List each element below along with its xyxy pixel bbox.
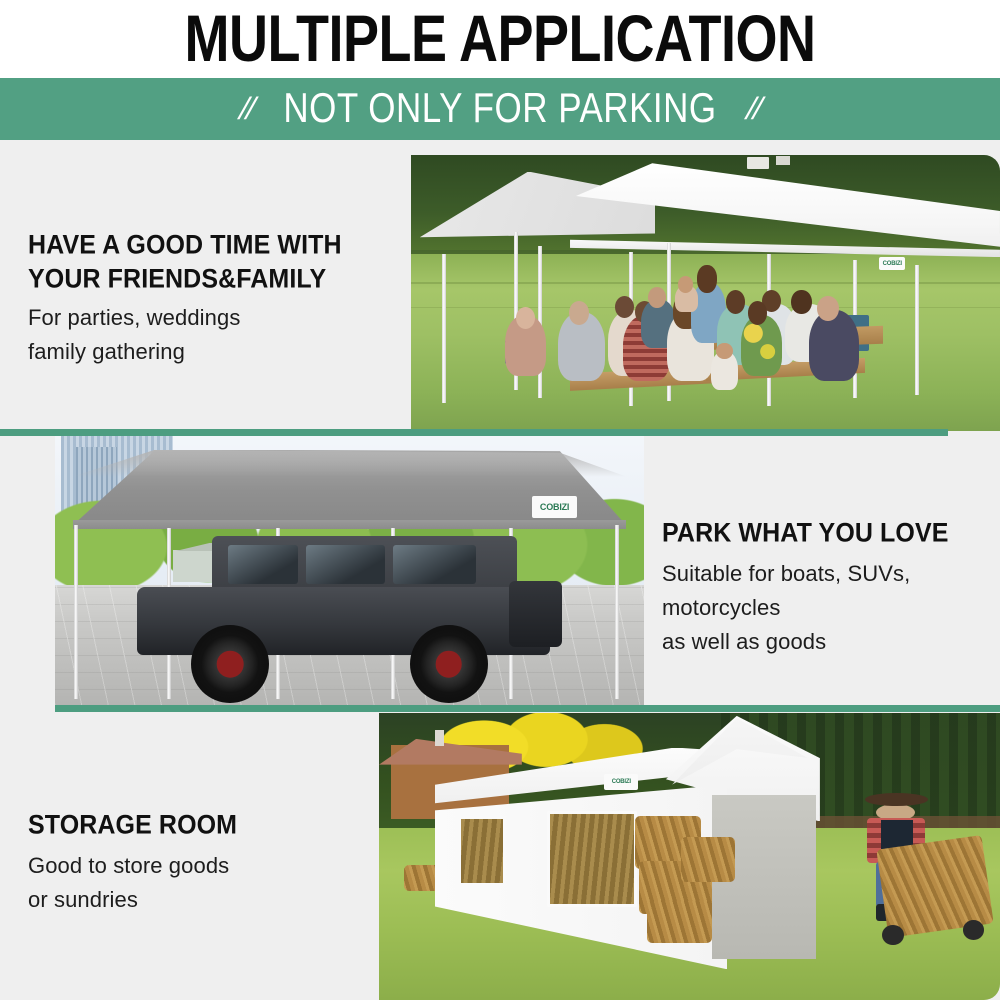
- brake-caliper: [435, 651, 462, 678]
- section-friends-family-photo: COBIZI: [411, 155, 1000, 431]
- carport-roof-highlight: [73, 450, 627, 477]
- section-title: HAVE A GOOD TIME WITH YOUR FRIENDS&FAMIL…: [28, 228, 398, 296]
- brand-logo-text: COBIZI: [540, 502, 569, 512]
- person-head: [726, 290, 745, 313]
- canopy-pole: [915, 265, 919, 395]
- section-body-line1: Suitable for boats, SUVs,: [662, 557, 992, 591]
- suv-window: [393, 545, 475, 584]
- carport-pole: [74, 525, 78, 698]
- suv-wheel: [191, 625, 269, 703]
- suv-wheel: [410, 625, 488, 703]
- section-body-line3: as well as goods: [662, 625, 992, 659]
- infographic-page: MULTIPLE APPLICATION // NOT ONLY FOR PAR…: [0, 0, 1000, 1000]
- hay-bale: [681, 837, 735, 882]
- carport-pole: [615, 525, 619, 698]
- section-friends-family-caption: HAVE A GOOD TIME WITH YOUR FRIENDS&FAMIL…: [28, 228, 398, 369]
- suv-vehicle: [137, 536, 549, 685]
- person: [741, 315, 782, 376]
- suv-spare-tire: [509, 581, 563, 647]
- section-storage-caption: STORAGE ROOM Good to store goods or sund…: [28, 808, 378, 917]
- person-head: [817, 296, 838, 321]
- section-park-photo: COBIZI: [55, 436, 644, 707]
- section-body: For parties, weddings family gathering: [28, 301, 398, 369]
- section-title-line2: YOUR FRIENDS&FAMILY: [28, 262, 398, 296]
- person-head: [569, 301, 589, 324]
- hay-bale: [647, 901, 712, 943]
- carport-valance: [73, 520, 627, 529]
- brand-logo: COBIZI: [532, 496, 577, 518]
- brand-logo-text: COBIZI: [883, 261, 902, 267]
- person-head: [697, 265, 717, 293]
- section-title: STORAGE ROOM: [28, 808, 378, 842]
- section-title-line1: PARK WHAT YOU LOVE: [662, 516, 992, 550]
- storage-tent: COBIZI: [435, 716, 820, 980]
- brand-logo: COBIZI: [604, 774, 638, 790]
- section-body: Good to store goods or sundries: [28, 849, 378, 917]
- person-head: [791, 290, 811, 313]
- tent-window: [458, 816, 506, 885]
- person-head: [615, 296, 634, 318]
- hand-truck-wheel: [963, 920, 985, 940]
- section-park-caption: PARK WHAT YOU LOVE Suitable for boats, S…: [662, 516, 992, 659]
- section-body-line1: Good to store goods: [28, 849, 378, 883]
- person: [809, 310, 859, 382]
- tent-window: [547, 811, 638, 907]
- child-head: [678, 276, 693, 293]
- distant-house-2-icon: [776, 156, 790, 165]
- section-divider-2: [55, 705, 1000, 712]
- suv-window: [306, 545, 384, 584]
- cowboy-hat-icon: [865, 793, 928, 806]
- header-subtitle-banner: // NOT ONLY FOR PARKING //: [0, 78, 1000, 140]
- brand-logo-text: COBIZI: [612, 779, 631, 785]
- section-divider-1: [0, 429, 948, 436]
- slash-left-icon: //: [235, 91, 259, 127]
- section-body-line1: For parties, weddings: [28, 301, 398, 335]
- section-body-line2: or sundries: [28, 883, 378, 917]
- canopy-pole: [442, 254, 446, 403]
- person-head: [516, 307, 535, 329]
- section-title-line1: HAVE A GOOD TIME WITH: [28, 228, 398, 262]
- header-title-bar: MULTIPLE APPLICATION: [0, 0, 1000, 78]
- section-storage-photo: COBIZI: [379, 713, 1000, 1000]
- child-head: [716, 343, 732, 360]
- shirt-collar: [881, 820, 912, 849]
- section-title-line1: STORAGE ROOM: [28, 808, 378, 842]
- banner-text: NOT ONLY FOR PARKING: [283, 85, 716, 132]
- section-body-line2: motorcycles: [662, 591, 992, 625]
- page-title: MULTIPLE APPLICATION: [185, 6, 816, 72]
- section-title: PARK WHAT YOU LOVE: [662, 516, 992, 550]
- suv-window: [228, 545, 298, 584]
- brand-logo: COBIZI: [879, 257, 905, 270]
- section-body-line2: family gathering: [28, 335, 398, 369]
- person-head: [748, 301, 767, 324]
- brake-caliper: [217, 651, 244, 678]
- section-body: Suitable for boats, SUVs, motorcycles as…: [662, 557, 992, 659]
- distant-house-icon: [747, 157, 769, 169]
- slash-right-icon: //: [741, 91, 765, 127]
